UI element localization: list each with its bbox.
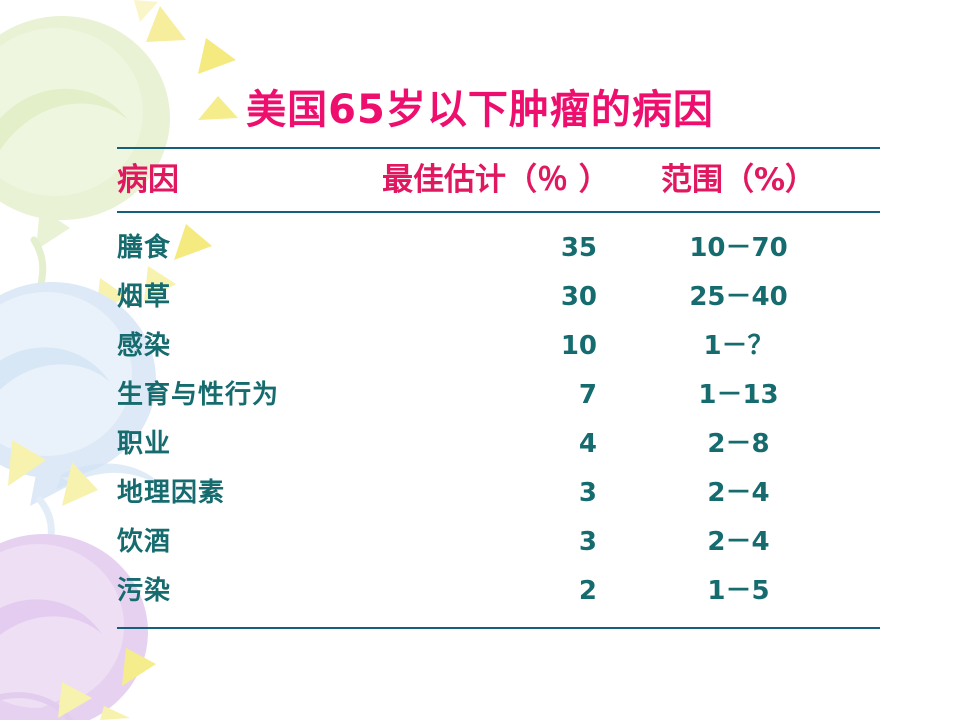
data-table-container: 病因 最佳估计（％ ） 范围（%） 膳食 35 10－70 烟草 3 bbox=[117, 147, 880, 629]
cell-cause: 烟草 bbox=[117, 272, 382, 321]
cell-cause: 膳食 bbox=[117, 219, 382, 272]
cell-range: 1－？ bbox=[597, 321, 880, 370]
table-body-spacer-bottom bbox=[117, 615, 880, 627]
cell-range: 2－4 bbox=[597, 517, 880, 566]
cell-best: 35 bbox=[382, 219, 597, 272]
causes-table-body-wrap: 膳食 35 10－70 烟草 30 25－40 感染 10 1－？ 生育与性行为… bbox=[117, 219, 880, 615]
cell-range: 25－40 bbox=[597, 272, 880, 321]
cell-best: 10 bbox=[382, 321, 597, 370]
sunburst-rays-midlow bbox=[8, 440, 98, 506]
causes-table: 病因 最佳估计（％ ） 范围（%） bbox=[117, 149, 880, 211]
cell-cause: 地理因素 bbox=[117, 468, 382, 517]
table-row: 生育与性行为 7 1－13 bbox=[117, 370, 880, 419]
sunburst-rays-bottom bbox=[58, 648, 156, 720]
cell-best: 4 bbox=[382, 419, 597, 468]
table-row: 地理因素 3 2－4 bbox=[117, 468, 880, 517]
cell-range: 2－8 bbox=[597, 419, 880, 468]
cell-best: 2 bbox=[382, 566, 597, 615]
column-header-cause: 病因 bbox=[117, 149, 382, 211]
cell-best: 3 bbox=[382, 468, 597, 517]
cell-range: 10－70 bbox=[597, 219, 880, 272]
cell-best: 7 bbox=[382, 370, 597, 419]
cell-cause: 感染 bbox=[117, 321, 382, 370]
cell-best: 30 bbox=[382, 272, 597, 321]
page-title: 美国65岁以下肿瘤的病因 bbox=[0, 88, 960, 133]
cell-range: 1－5 bbox=[597, 566, 880, 615]
table-row: 感染 10 1－？ bbox=[117, 321, 880, 370]
cell-range: 1－13 bbox=[597, 370, 880, 419]
table-row: 膳食 35 10－70 bbox=[117, 219, 880, 272]
cell-cause: 生育与性行为 bbox=[117, 370, 382, 419]
column-header-best-estimate: 最佳估计（％ ） bbox=[382, 149, 597, 211]
table-row: 烟草 30 25－40 bbox=[117, 272, 880, 321]
table-row: 职业 4 2－8 bbox=[117, 419, 880, 468]
table-body: 膳食 35 10－70 烟草 30 25－40 感染 10 1－？ 生育与性行为… bbox=[117, 219, 880, 615]
cell-cause: 饮酒 bbox=[117, 517, 382, 566]
cell-cause: 职业 bbox=[117, 419, 382, 468]
column-header-range: 范围（%） bbox=[597, 149, 880, 211]
cell-cause: 污染 bbox=[117, 566, 382, 615]
table-row: 饮酒 3 2－4 bbox=[117, 517, 880, 566]
slide-canvas: 美国65岁以下肿瘤的病因 病因 最佳估计（％ ） 范围（%） bbox=[0, 0, 960, 720]
table-header-row: 病因 最佳估计（％ ） 范围（%） bbox=[117, 149, 880, 211]
table-header: 病因 最佳估计（％ ） 范围（%） bbox=[117, 149, 880, 211]
cell-best: 3 bbox=[382, 517, 597, 566]
cell-range: 2－4 bbox=[597, 468, 880, 517]
table-row: 污染 2 1－5 bbox=[117, 566, 880, 615]
table-bottom-rule bbox=[117, 627, 880, 629]
